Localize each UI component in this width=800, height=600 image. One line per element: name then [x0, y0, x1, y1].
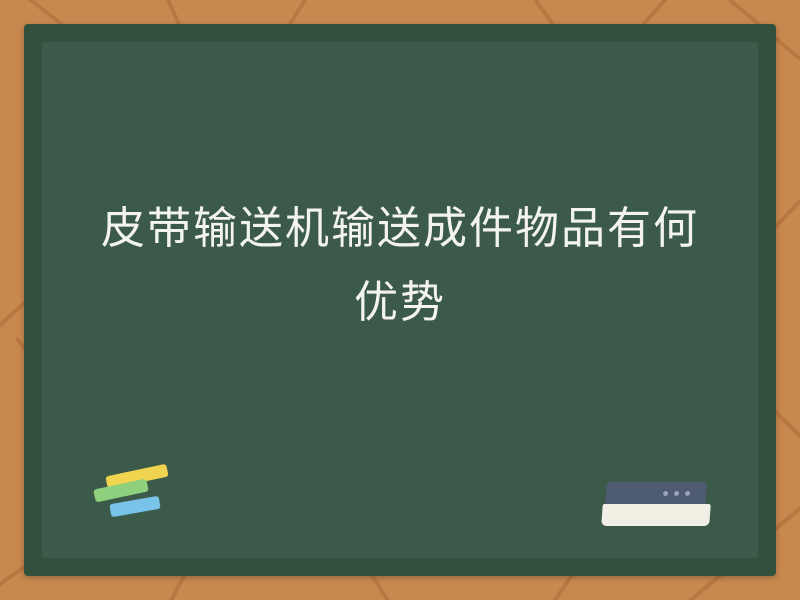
eraser-body [601, 504, 711, 526]
chalk-group [82, 460, 222, 530]
blackboard-surface: 皮带输送机输送成件物品有何优势 [42, 42, 758, 558]
eraser-dot [674, 491, 679, 496]
eraser-dot [663, 491, 668, 496]
blackboard-scene: 皮带输送机输送成件物品有何优势 [0, 0, 800, 600]
chalk-blue-icon [109, 496, 160, 517]
eraser-dot [685, 491, 690, 496]
page-title: 皮带输送机输送成件物品有何优势 [42, 192, 758, 340]
eraser-icon [602, 482, 710, 528]
blackboard-frame: 皮带输送机输送成件物品有何优势 [24, 24, 776, 576]
